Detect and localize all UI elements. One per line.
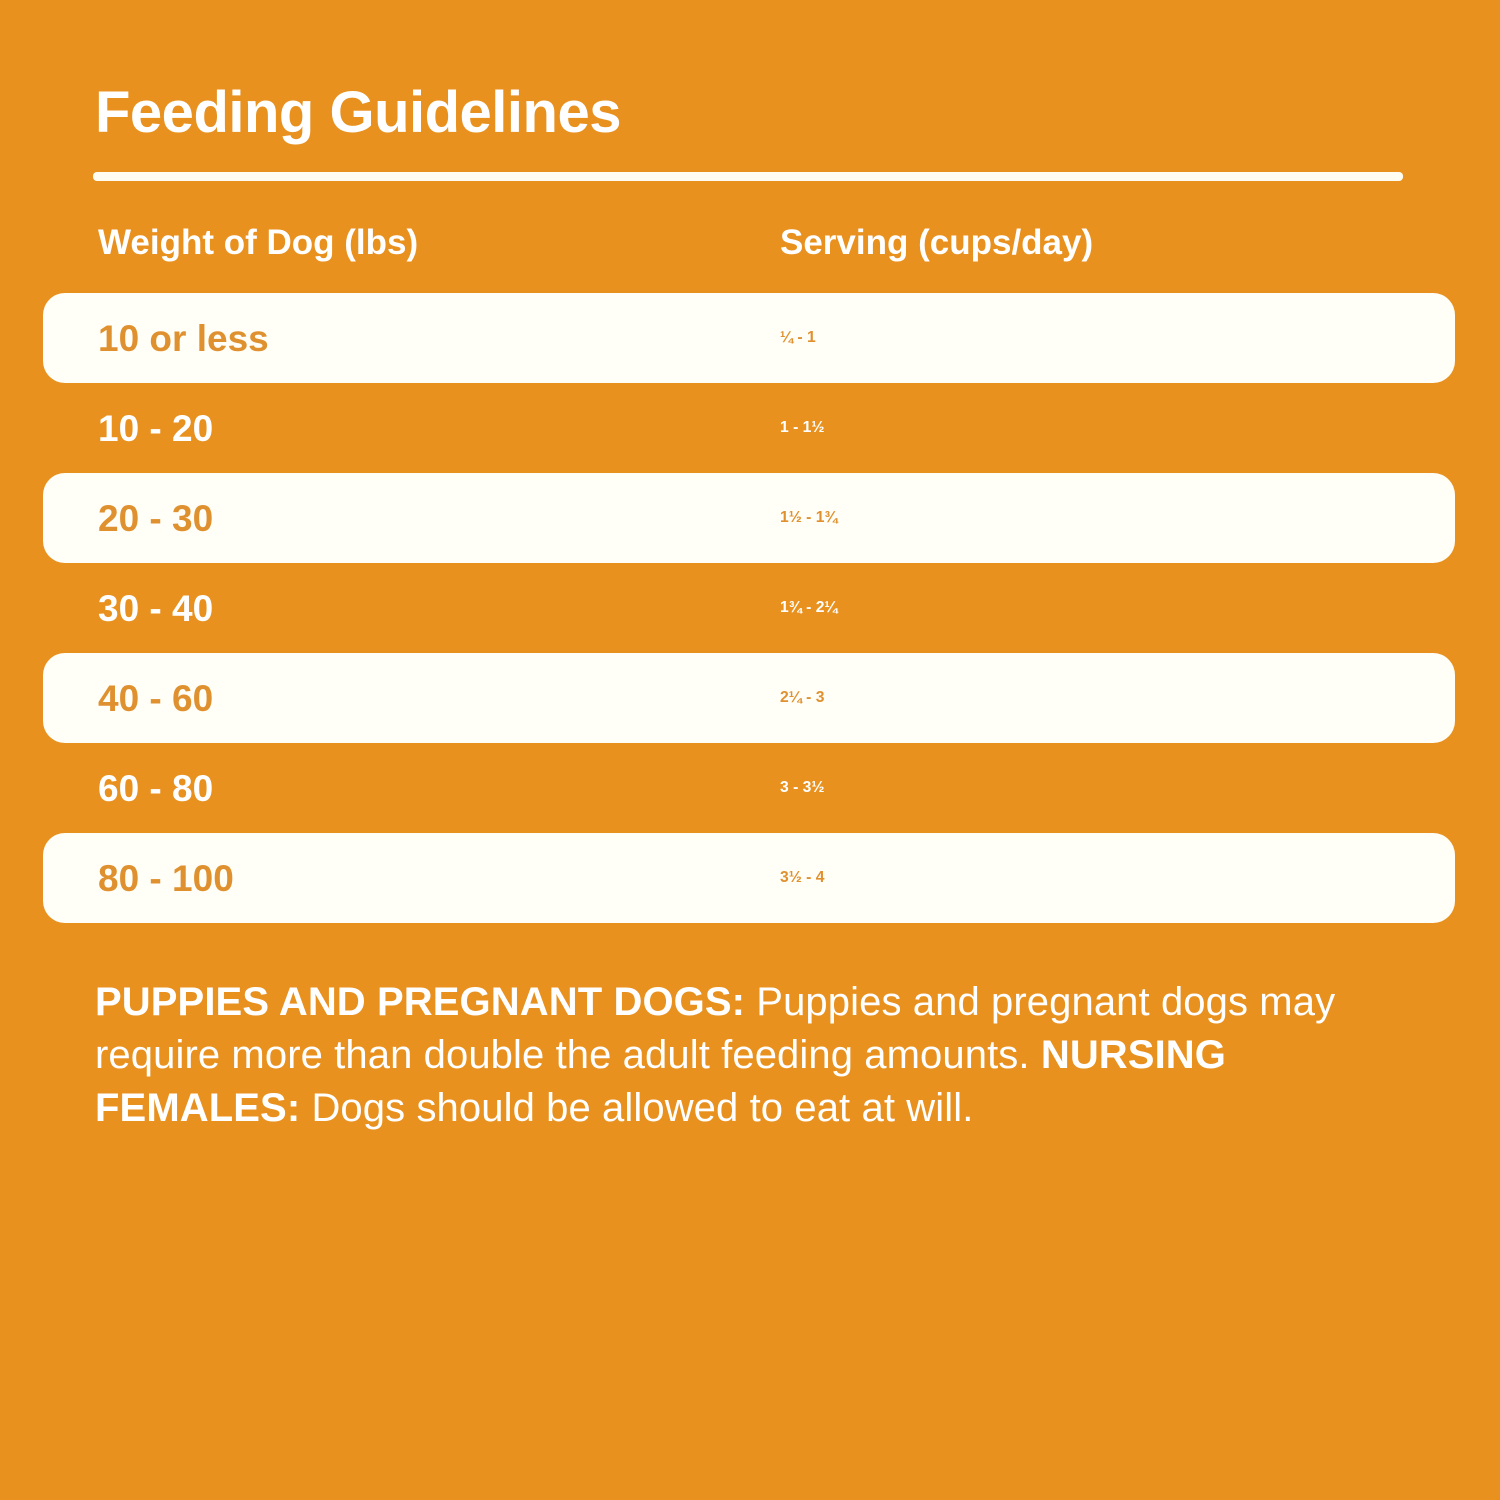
table-column-headers: Weight of Dog (lbs) Serving (cups/day) [0,222,1500,278]
column-header-serving: Serving (cups/day) [780,222,1093,264]
row-background [43,383,1455,473]
table-row: 10 or less ¼ - 1 [0,293,1500,383]
row-background [43,473,1455,563]
cell-serving: 3 - 3½ [780,743,824,833]
cell-weight: 20 - 30 [98,473,213,563]
cell-weight: 80 - 100 [98,833,234,923]
table-row: 40 - 60 2¼ - 3 [0,653,1500,743]
table-row: 20 - 30 1½ - 1¾ [0,473,1500,563]
table-row: 10 - 20 1 - 1½ [0,383,1500,473]
table-row: 60 - 80 3 - 3½ [0,743,1500,833]
cell-weight: 30 - 40 [98,563,213,653]
row-background [43,563,1455,653]
note-label-puppies: PUPPIES AND PREGNANT DOGS: [95,980,745,1024]
table-row: 80 - 100 3½ - 4 [0,833,1500,923]
cell-serving: 1½ - 1¾ [780,473,838,563]
row-background [43,653,1455,743]
cell-weight: 10 or less [98,293,269,383]
cell-serving: 1¾ - 2¼ [780,563,838,653]
cell-serving: 1 - 1½ [780,383,824,473]
feeding-note: PUPPIES AND PREGNANT DOGS: Puppies and p… [95,976,1415,1136]
cell-weight: 60 - 80 [98,743,213,833]
feeding-table: 10 or less ¼ - 1 10 - 20 1 - 1½ 20 - 30 … [0,293,1500,923]
cell-serving: 2¼ - 3 [780,653,824,743]
column-header-weight: Weight of Dog (lbs) [98,222,418,264]
row-background [43,833,1455,923]
cell-serving: 3½ - 4 [780,833,824,923]
feeding-guidelines-panel: Feeding Guidelines Weight of Dog (lbs) S… [0,0,1500,1500]
cell-serving: ¼ - 1 [780,293,816,383]
table-row: 30 - 40 1¾ - 2¼ [0,563,1500,653]
cell-weight: 40 - 60 [98,653,213,743]
row-background [43,743,1455,833]
page-title: Feeding Guidelines [95,84,621,142]
title-divider [93,172,1403,181]
note-text-nursing: Dogs should be allowed to eat at will. [300,1086,973,1130]
cell-weight: 10 - 20 [98,383,213,473]
